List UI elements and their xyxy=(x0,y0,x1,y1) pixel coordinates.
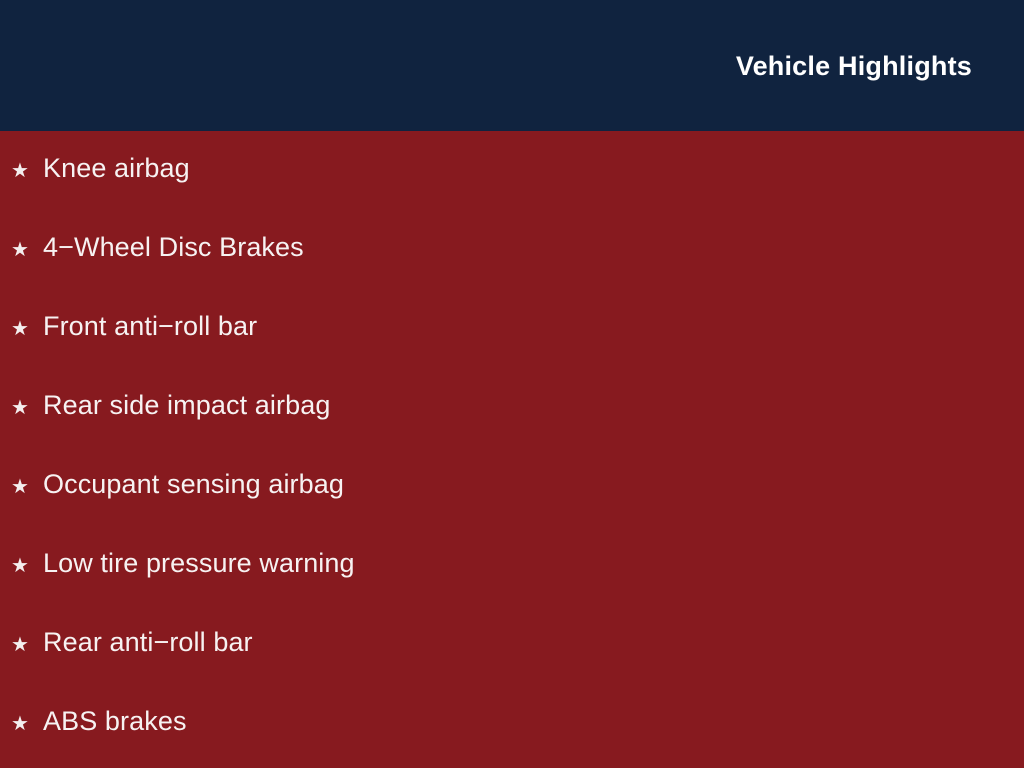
star-icon: ★ xyxy=(11,713,43,733)
list-item: ★ Rear anti−roll bar xyxy=(0,629,1024,708)
list-item-label: Low tire pressure warning xyxy=(43,550,1024,577)
vehicle-highlights-list: ★ Knee airbag ★ 4−Wheel Disc Brakes ★ Fr… xyxy=(0,155,1024,768)
star-icon: ★ xyxy=(11,476,43,496)
list-item: ★ Low tire pressure warning xyxy=(0,550,1024,629)
star-icon: ★ xyxy=(11,239,43,259)
list-item: ★ Knee airbag xyxy=(0,155,1024,234)
list-item-label: ABS brakes xyxy=(43,708,1024,735)
slide-header-bar: Vehicle Highlights xyxy=(0,0,1024,131)
list-item: ★ Occupant sensing airbag xyxy=(0,471,1024,550)
vehicle-highlights-slide: Vehicle Highlights ★ Knee airbag ★ 4−Whe… xyxy=(0,0,1024,768)
star-icon: ★ xyxy=(11,634,43,654)
list-item-label: 4−Wheel Disc Brakes xyxy=(43,234,1024,261)
list-item-label: Occupant sensing airbag xyxy=(43,471,1024,498)
list-item-label: Rear side impact airbag xyxy=(43,392,1024,419)
list-item-label: Knee airbag xyxy=(43,155,1024,182)
star-icon: ★ xyxy=(11,397,43,417)
list-item-label: Front anti−roll bar xyxy=(43,313,1024,340)
slide-body: ★ Knee airbag ★ 4−Wheel Disc Brakes ★ Fr… xyxy=(0,131,1024,768)
list-item-label: Rear anti−roll bar xyxy=(43,629,1024,656)
page-title: Vehicle Highlights xyxy=(736,53,972,80)
list-item: ★ 4−Wheel Disc Brakes xyxy=(0,234,1024,313)
list-item: ★ ABS brakes xyxy=(0,708,1024,768)
list-item: ★ Rear side impact airbag xyxy=(0,392,1024,471)
star-icon: ★ xyxy=(11,555,43,575)
list-item: ★ Front anti−roll bar xyxy=(0,313,1024,392)
star-icon: ★ xyxy=(11,160,43,180)
star-icon: ★ xyxy=(11,318,43,338)
